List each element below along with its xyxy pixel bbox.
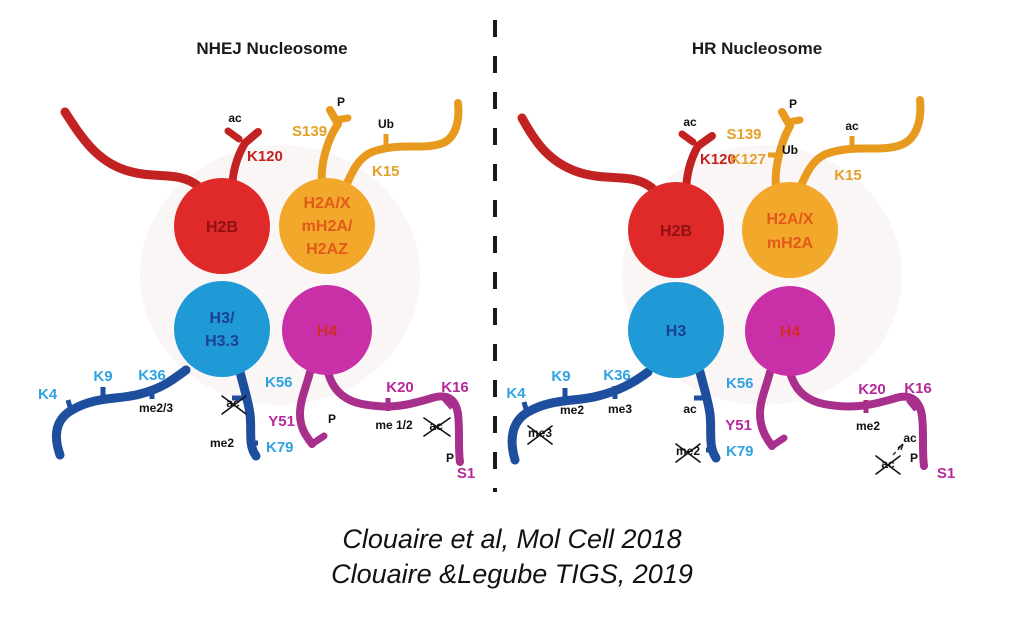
core-label-h3-line1: H3/ <box>210 310 235 327</box>
core-label-h3-line2: H3.3 <box>205 333 239 350</box>
h4-y51-residue-label: Y51 <box>268 413 295 430</box>
h3-k9-residue-label: K9 <box>551 368 570 385</box>
h2a-k15-residue-label: K15 <box>372 163 400 180</box>
h2a-s139-fork <box>788 120 800 122</box>
h2a-k15-mod-label: Ub <box>378 117 394 131</box>
h4-s1-mod-label: P <box>446 451 454 465</box>
core-label-h4: H4 <box>317 323 338 340</box>
core-label-h2b: H2B <box>660 223 692 240</box>
h3-k56-residue-label: K56 <box>726 375 754 392</box>
h4-k20-residue-label: K20 <box>386 379 414 396</box>
h4-k16-residue-label: K16 <box>441 379 469 396</box>
h4-s1-residue-label: S1 <box>937 465 955 482</box>
halo <box>140 145 420 405</box>
core-circle-h2a <box>742 182 838 278</box>
core-label-h2a-line3: H2AZ <box>306 241 348 258</box>
h2a-s139-mod-label: P <box>337 95 345 109</box>
h3-k56-mod-label: ac <box>683 402 697 416</box>
h3-k9-residue-label: K9 <box>93 368 112 385</box>
panel-title-hr: HR Nucleosome <box>692 39 822 58</box>
h4-k20-mod-label: me2 <box>856 419 880 433</box>
h2b-k120-mod-label: ac <box>228 111 242 125</box>
h4-y51-mod-label: P <box>328 412 336 426</box>
h2a-s139-residue-label: S139 <box>726 126 761 143</box>
core-label-h2a-line1: H2A/X <box>766 211 813 228</box>
core-label-h2a-line1: H2A/X <box>303 195 350 212</box>
h3-k4-residue-label: K4 <box>38 386 58 403</box>
h4-k16-new-mod-label: ac <box>903 431 917 445</box>
h3-k36-residue-label: K36 <box>138 367 166 384</box>
core-label-h3: H3 <box>666 323 687 340</box>
h3-k9-mod-label: me2 <box>560 403 584 417</box>
h2b-k120-residue-label: K120 <box>247 148 283 165</box>
h2a-k127-residue-label: K127 <box>730 151 766 168</box>
h4-s1-mod-label: P <box>910 451 918 465</box>
core-label-h2a-line2: mH2A <box>767 235 814 252</box>
h2a-k127-mod-label: Ub <box>782 143 798 157</box>
h2a-k15-mod-label: ac <box>845 119 859 133</box>
citation-line-2: Clouaire &Legube TIGS, 2019 <box>331 559 693 589</box>
h4-s1-residue-label: S1 <box>457 465 475 482</box>
h3-k79-mod-label: me2 <box>210 436 234 450</box>
h4-k20-residue-label: K20 <box>858 381 886 398</box>
h4-k16-residue-label: K16 <box>904 380 932 397</box>
h3-k4-residue-label: K4 <box>506 385 526 402</box>
nucleosome-diagram: NHEJ Nucleosome HR Nucleosome ac K120 P … <box>0 0 1024 635</box>
h4-y51-residue-label: Y51 <box>725 417 752 434</box>
h4-k20-mod-label: me 1/2 <box>375 418 413 432</box>
citation-line-1: Clouaire et al, Mol Cell 2018 <box>342 524 681 554</box>
h3-k36-mod-label: me3 <box>608 402 632 416</box>
h3-k56-residue-label: K56 <box>265 374 293 391</box>
core-circle-h3 <box>174 281 270 377</box>
core-label-h2a-line2: mH2A/ <box>302 218 353 235</box>
h3-k79-residue-label: K79 <box>726 443 754 460</box>
h2a-k15-residue-label: K15 <box>834 167 862 184</box>
h3-k79-residue-label: K79 <box>266 439 294 456</box>
h2a-s139-fork <box>336 118 348 120</box>
h2a-s139-mod-label: P <box>789 97 797 111</box>
h3-k36-mod-label: me2/3 <box>139 401 173 415</box>
figure-canvas: NHEJ Nucleosome HR Nucleosome ac K120 P … <box>0 0 1024 635</box>
h2b-k120-mod-label: ac <box>683 115 697 129</box>
h3-k36-residue-label: K36 <box>603 367 631 384</box>
panel-title-nhej: NHEJ Nucleosome <box>196 39 347 58</box>
h2a-s139-residue-label: S139 <box>292 123 327 140</box>
core-label-h2b: H2B <box>206 219 238 236</box>
core-label-h4: H4 <box>780 324 801 341</box>
